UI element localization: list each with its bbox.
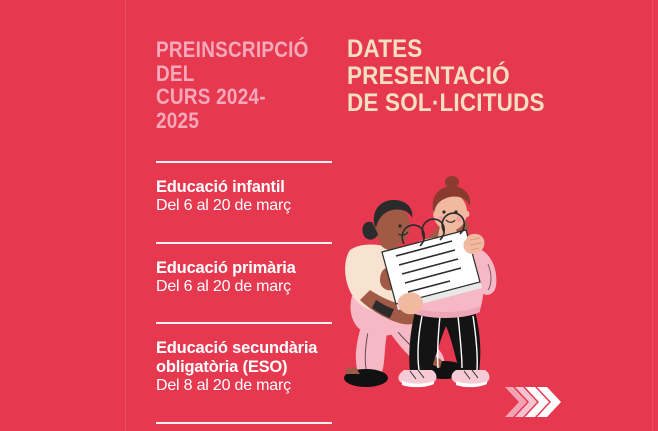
schedule-level-label: Educació infantil <box>156 178 332 197</box>
left-column: Preinscripció del curs 2024-2025 Educaci… <box>156 38 332 424</box>
students-illustration <box>340 140 570 390</box>
schedule-dates-label: Del 6 al 20 de març <box>156 278 332 297</box>
schedule-dates-label: Del 6 al 20 de març <box>156 197 332 216</box>
preinscription-kicker: Preinscripció del curs 2024-2025 <box>156 38 307 132</box>
divider-bottom <box>156 422 332 424</box>
schedule-item-eso: Educació secundària obligatòria (ESO) De… <box>156 339 332 395</box>
vertical-guide-left <box>125 0 126 431</box>
schedule-level-label: Educació primària <box>156 259 332 278</box>
poster-canvas: Preinscripció del curs 2024-2025 Educaci… <box>0 0 658 431</box>
schedule-level-label: Educació secundària obligatòria (ESO) <box>156 339 332 377</box>
dates-presentation-heading: Dates presentació de sol·licituds <box>347 36 554 117</box>
schedule-item-primaria: Educació primària Del 6 al 20 de març <box>156 259 332 297</box>
vertical-guide-right <box>652 0 653 431</box>
schedule-dates-label: Del 8 al 20 de març <box>156 377 332 396</box>
double-chevron-right-icon[interactable] <box>505 383 565 421</box>
schedule-item-infantil: Educació infantil Del 6 al 20 de març <box>156 178 332 216</box>
